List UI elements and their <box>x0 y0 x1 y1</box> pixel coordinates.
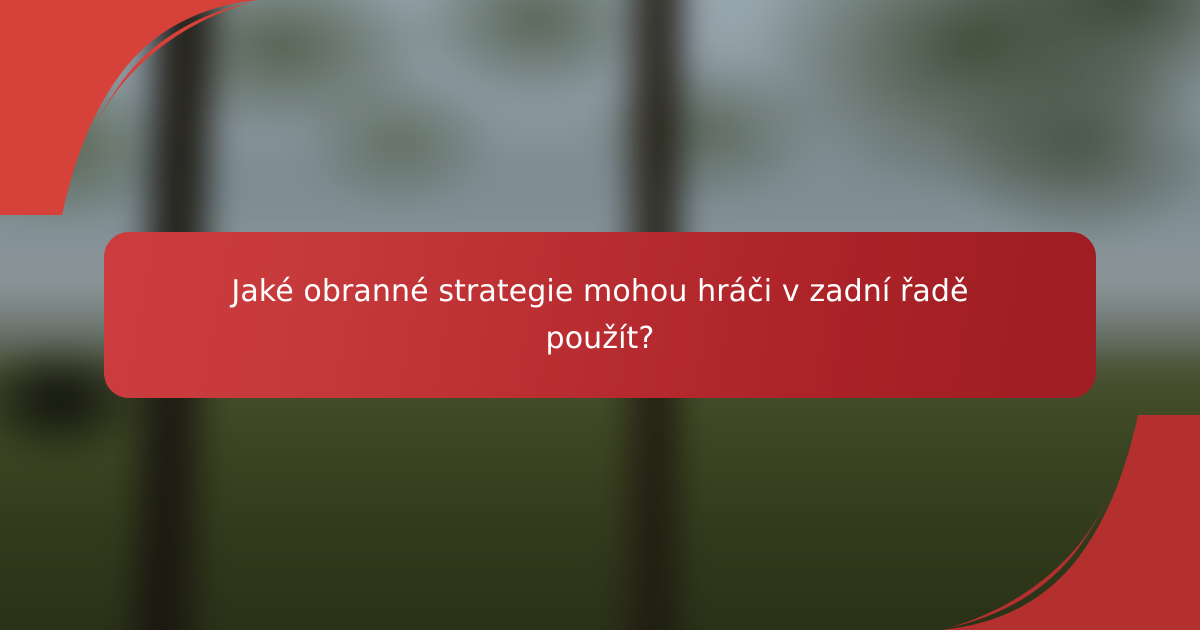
question-title: Jaké obranné strategie mohou hráči v zad… <box>220 268 980 362</box>
question-card: Jaké obranné strategie mohou hráči v zad… <box>104 232 1096 398</box>
social-card-canvas: Jaké obranné strategie mohou hráči v zad… <box>0 0 1200 630</box>
